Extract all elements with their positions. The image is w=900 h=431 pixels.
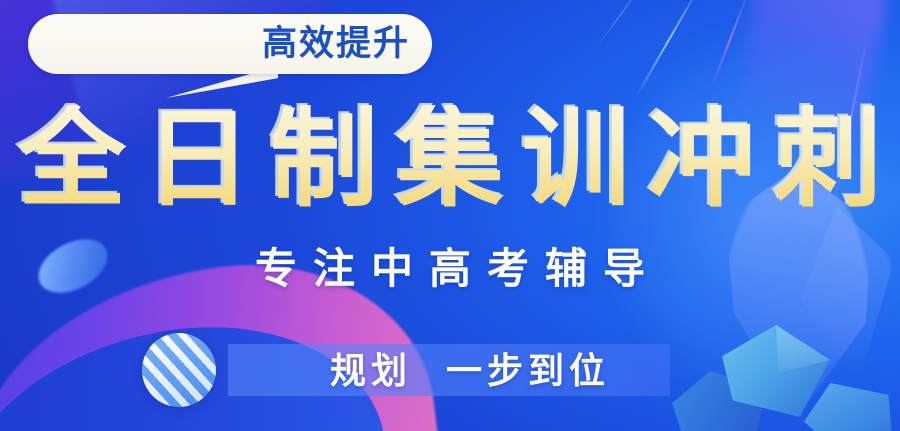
promo-banner: 高效提升 全 日 制 集 训 冲 刺 专注中高考辅导 规划 一步到位 — [0, 0, 900, 431]
headline-char: 训 — [522, 105, 630, 213]
badge-label: 高效提升 — [262, 26, 410, 61]
headline: 全 日 制 集 训 冲 刺 — [18, 100, 882, 218]
headline-char: 制 — [270, 105, 378, 213]
headline-char: 冲 — [648, 105, 756, 213]
footer-text: 规划 一步到位 — [330, 345, 610, 397]
badge-speech-bubble: 高效提升 — [28, 14, 432, 74]
footer-left-label: 规划 — [330, 353, 412, 389]
subtitle: 专注中高考辅导 — [0, 246, 900, 292]
headline-char: 全 — [18, 105, 126, 213]
headline-char: 日 — [144, 105, 252, 213]
footer-right-label: 一步到位 — [446, 353, 610, 389]
headline-char: 刺 — [774, 105, 882, 213]
headline-char: 集 — [396, 105, 504, 213]
striped-circle-icon — [142, 333, 216, 407]
